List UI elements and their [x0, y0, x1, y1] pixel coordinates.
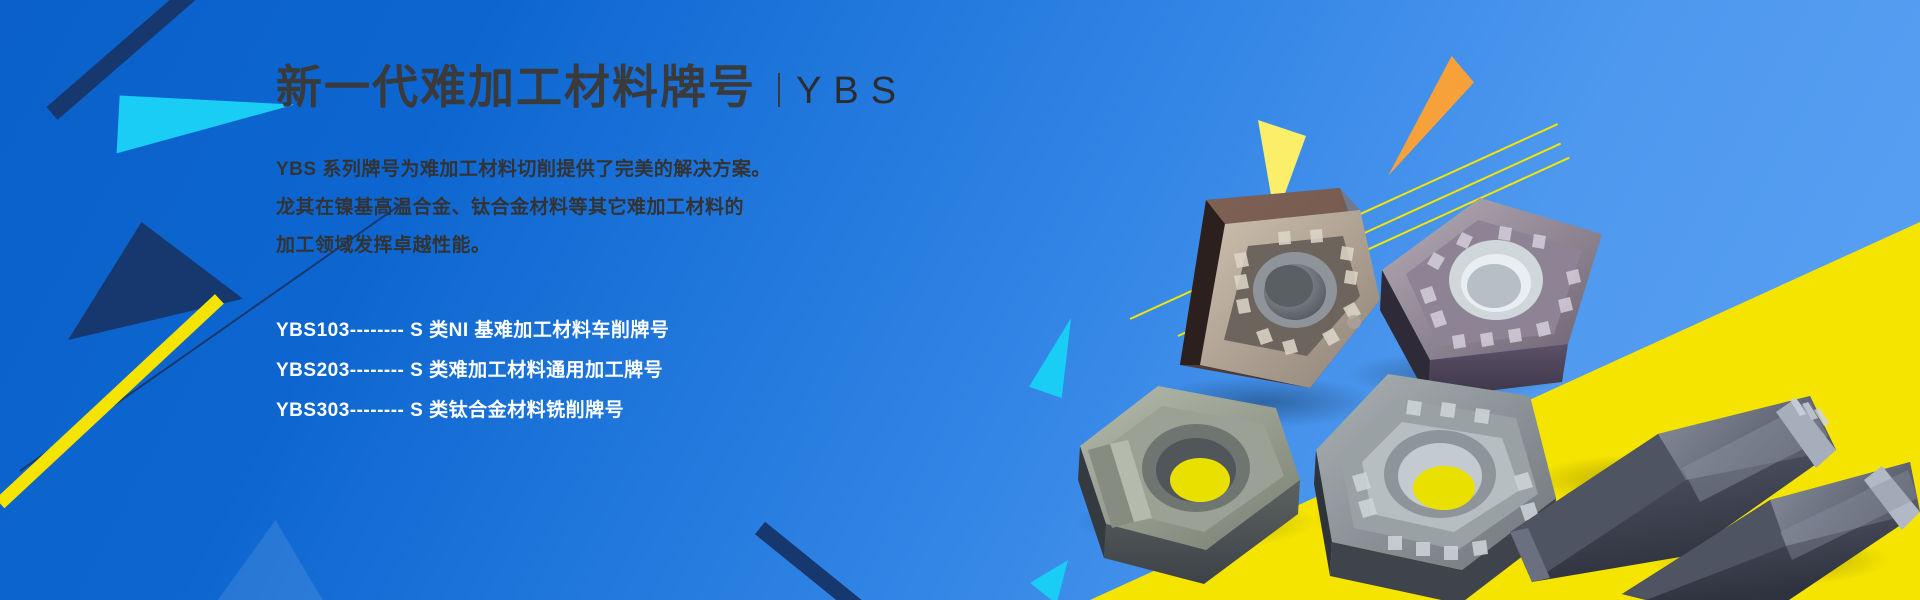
title-divider: [778, 73, 780, 107]
navy-diagonal-bar-decoration-bottom: [755, 522, 897, 600]
page-title: 新一代难加工材料牌号: [276, 62, 756, 113]
description-block: YBS 系列牌号为难加工材料切削提供了完美的解决方案。 龙其在镍基高温合金、钛合…: [276, 151, 1036, 265]
square-turning-insert: [1380, 198, 1602, 398]
light-blue-triangle-decoration: [215, 520, 325, 600]
list-item: YBS203-------- S 类难加工材料通用加工牌号: [276, 351, 1036, 391]
trigon-turning-insert: [1180, 188, 1380, 388]
list-item: YBS103-------- S 类NI 基难加工材料车削牌号: [276, 311, 1036, 351]
cyan-triangle-decoration-left: [117, 95, 295, 162]
description-line: YBS 系列牌号为难加工材料切削提供了完美的解决方案。: [276, 151, 1036, 189]
grade-list: YBS103-------- S 类NI 基难加工材料车削牌号 YBS203--…: [276, 311, 1036, 431]
banner-copy: 新一代难加工材料牌号 YBS YBS 系列牌号为难加工材料切削提供了完美的解决方…: [276, 62, 1036, 431]
list-item: YBS303-------- S 类钛合金材料铣削牌号: [276, 391, 1036, 431]
headline-row: 新一代难加工材料牌号 YBS: [276, 62, 1036, 113]
promo-banner: 新一代难加工材料牌号 YBS YBS 系列牌号为难加工材料切削提供了完美的解决方…: [0, 0, 1920, 600]
navy-triangle-decoration-left: [68, 222, 243, 340]
brand-name: YBS: [796, 70, 908, 113]
pentagon-milling-insert: [1078, 386, 1300, 584]
description-line: 加工领域发挥卓越性能。: [276, 227, 1036, 265]
product-insert-group-image: [1010, 150, 1920, 600]
description-line: 龙其在镍基高温合金、钛合金材料等其它难加工材料的: [276, 189, 1036, 227]
